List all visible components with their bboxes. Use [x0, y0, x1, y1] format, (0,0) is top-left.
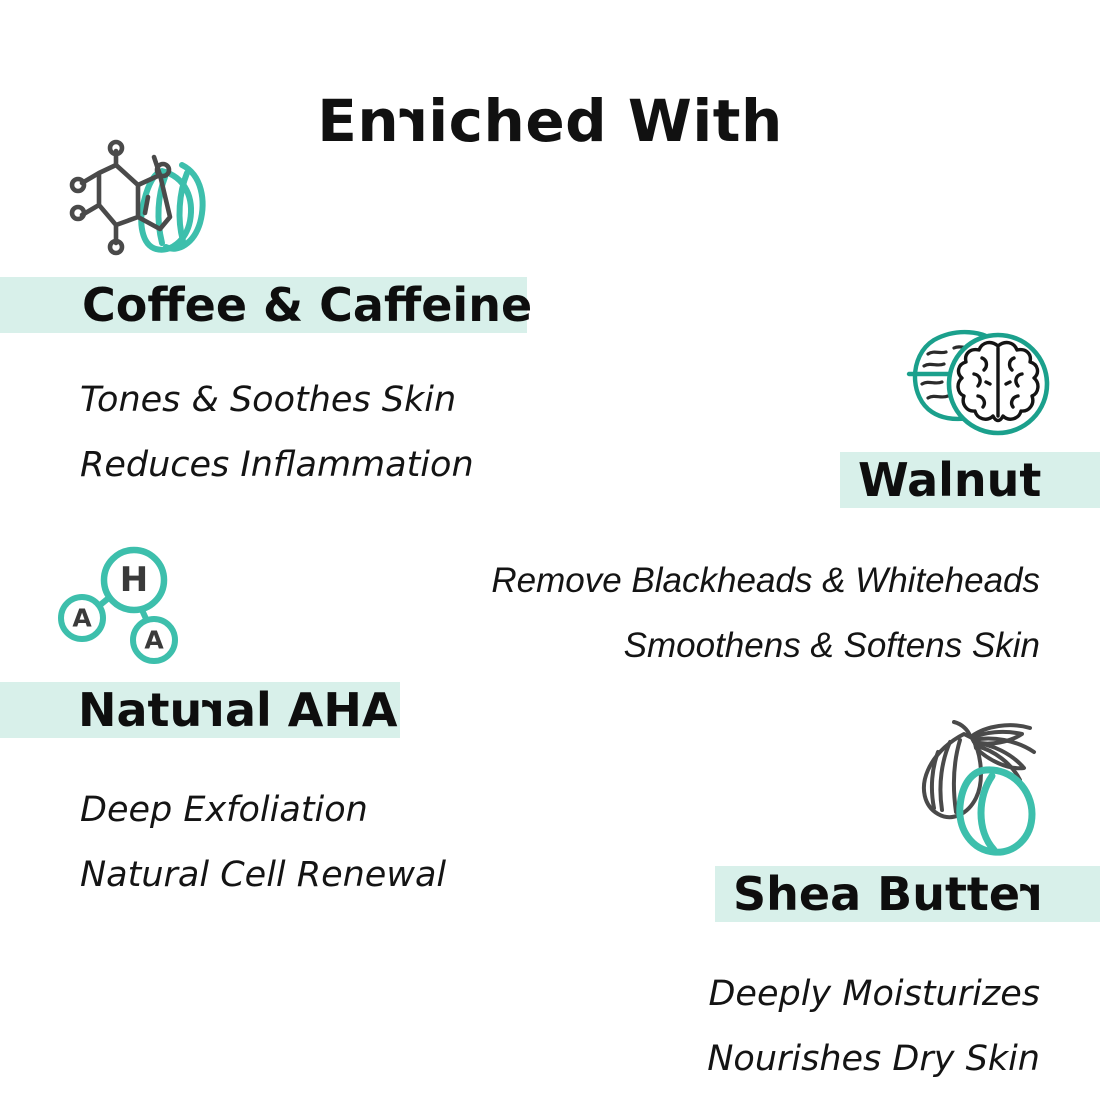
benefit-line: Deeply Moisturizes: [707, 962, 1040, 1027]
aha-molecule-icon: H A A: [58, 546, 188, 664]
molecule-label-h: H: [120, 560, 148, 600]
page-title: Enriched With: [0, 92, 1100, 150]
heading-band-coffee: Coffee & Caffeine: [0, 277, 527, 333]
benefit-line: Remove Blackheads & Whiteheads: [491, 548, 1040, 613]
enriched-with-infographic: Enriched With Coffee & Caffeine: [0, 0, 1100, 1100]
benefits-walnut: Remove Blackheads & Whiteheads Smoothens…: [491, 548, 1040, 678]
benefit-line: Natural Cell Renewal: [80, 843, 446, 908]
heading-label-coffee: Coffee & Caffeine: [82, 282, 532, 328]
heading-label-aha: Natural AHA: [78, 687, 398, 733]
benefits-aha: Deep Exfoliation Natural Cell Renewal: [80, 778, 446, 908]
shea-nut-and-bean-icon: [900, 718, 1050, 858]
molecule-label-a1: A: [72, 604, 92, 633]
benefit-line: Smoothens & Softens Skin: [491, 613, 1040, 678]
title-reversed-r-glyph: r: [399, 92, 428, 150]
heading-reversed-r-glyph: r: [202, 687, 225, 733]
caffeine-molecule-and-coffee-beans-icon: [66, 143, 206, 263]
benefit-line: Tones & Soothes Skin: [80, 368, 474, 433]
benefit-line: Deep Exfoliation: [80, 778, 446, 843]
heading-band-walnut: Walnut: [840, 452, 1100, 508]
heading-label-walnut: Walnut: [858, 457, 1041, 503]
benefit-line: Reduces Inflammation: [80, 433, 474, 498]
benefits-coffee: Tones & Soothes Skin Reduces Inflammatio…: [80, 368, 474, 498]
walnut-shell-and-kernel-icon: [898, 326, 1050, 438]
benefits-shea: Deeply Moisturizes Nourishes Dry Skin: [707, 962, 1040, 1092]
heading-band-aha: Natural AHA: [0, 682, 400, 738]
molecule-label-a2: A: [144, 626, 164, 655]
benefit-line: Nourishes Dry Skin: [707, 1027, 1040, 1092]
heading-reversed-r-glyph: r: [1020, 871, 1043, 917]
heading-label-shea: Shea Butter: [733, 871, 1043, 917]
heading-band-shea: Shea Butter: [715, 866, 1100, 922]
